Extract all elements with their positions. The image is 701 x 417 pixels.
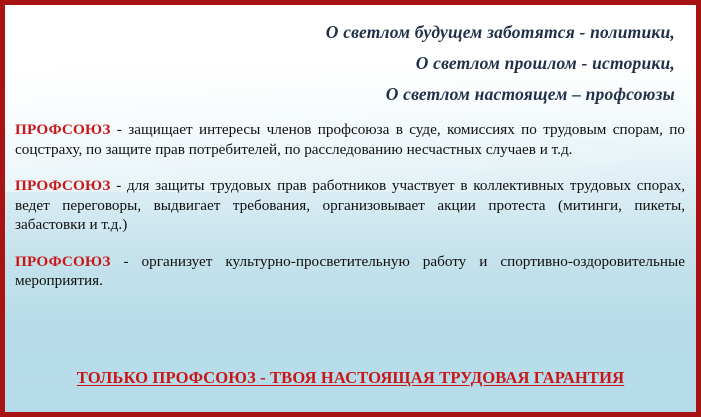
slide-heading: О светлом будущем заботятся - политики, … — [14, 5, 687, 110]
paragraph-keyword: ПРОФСОЮЗ — [15, 253, 111, 270]
paragraph-text: - для защиты трудовых прав работников уч… — [15, 177, 685, 233]
paragraph-text: - организует культурно-просветительную р… — [15, 253, 685, 290]
footer-slogan: ТОЛЬКО ПРОФСОЮЗ - ТВОЯ НАСТОЯЩАЯ ТРУДОВА… — [77, 368, 624, 388]
slide-canvas: О светлом будущем заботятся - политики, … — [0, 0, 701, 417]
heading-line-1: О светлом будущем заботятся - политики, — [14, 17, 675, 48]
paragraph-item: ПРОФСОЮЗ - для защиты трудовых прав рабо… — [14, 176, 687, 235]
body-paragraph-list: ПРОФСОЮЗ - защищает интересы членов проф… — [14, 120, 687, 291]
slide-footer: ТОЛЬКО ПРОФСОЮЗ - ТВОЯ НАСТОЯЩАЯ ТРУДОВА… — [5, 368, 696, 388]
paragraph-item: ПРОФСОЮЗ - организует культурно-просвети… — [14, 252, 687, 291]
paragraph-keyword: ПРОФСОЮЗ — [15, 121, 111, 138]
heading-line-2: О светлом прошлом - историки, — [14, 48, 675, 79]
slide-content: О светлом будущем заботятся - политики, … — [5, 5, 696, 412]
paragraph-text: - защищает интересы членов профсоюза в с… — [15, 121, 685, 158]
paragraph-item: ПРОФСОЮЗ - защищает интересы членов проф… — [14, 120, 687, 159]
heading-line-3: О светлом настоящем – профсоюзы — [14, 79, 675, 110]
paragraph-keyword: ПРОФСОЮЗ — [15, 177, 111, 194]
